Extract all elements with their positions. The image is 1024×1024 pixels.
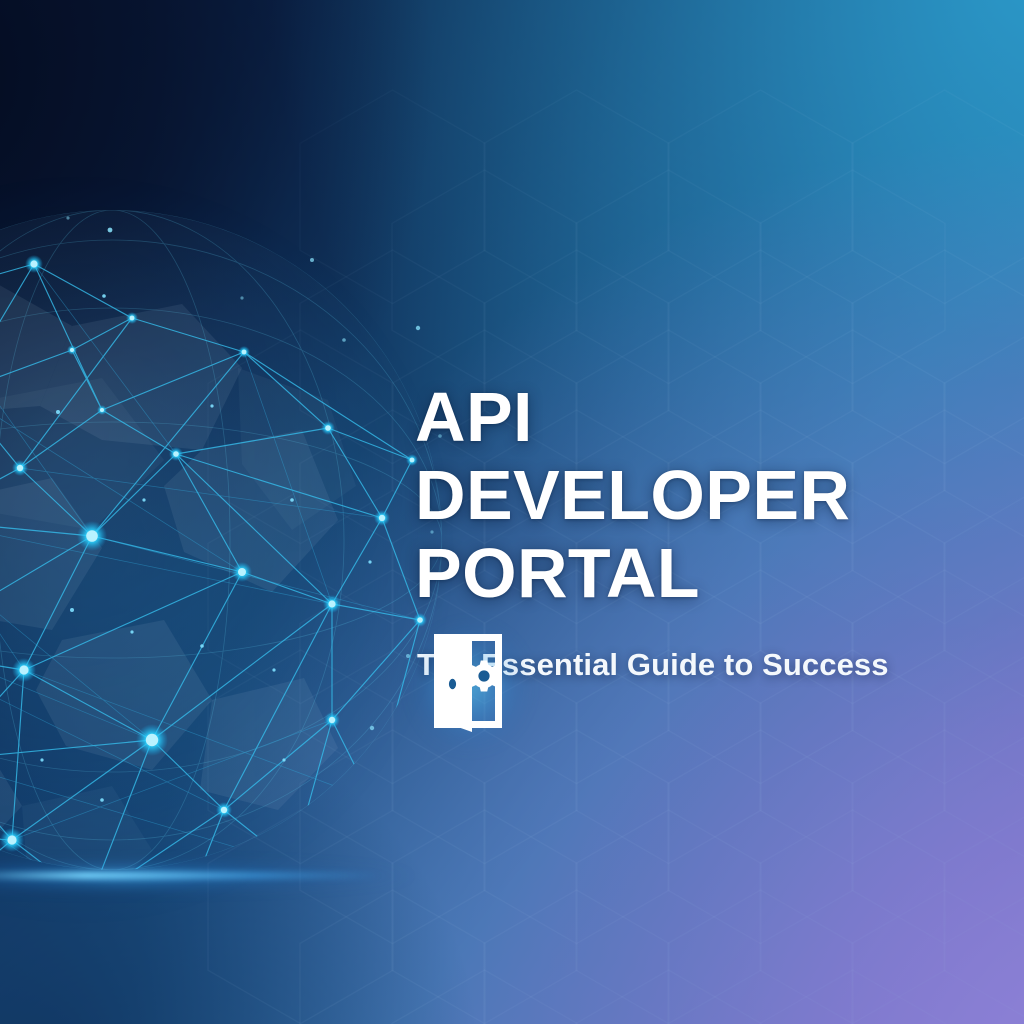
- portal-icon-container: [424, 628, 516, 738]
- open-door-with-gear-icon: [424, 628, 516, 738]
- horizontal-light-streak-core: [0, 872, 380, 879]
- page-title: API DEVELOPER PORTAL: [415, 378, 975, 612]
- wireframe-network-globe: [0, 200, 452, 880]
- poster-canvas: API DEVELOPER PORTAL The Essential Guide…: [0, 0, 1024, 1024]
